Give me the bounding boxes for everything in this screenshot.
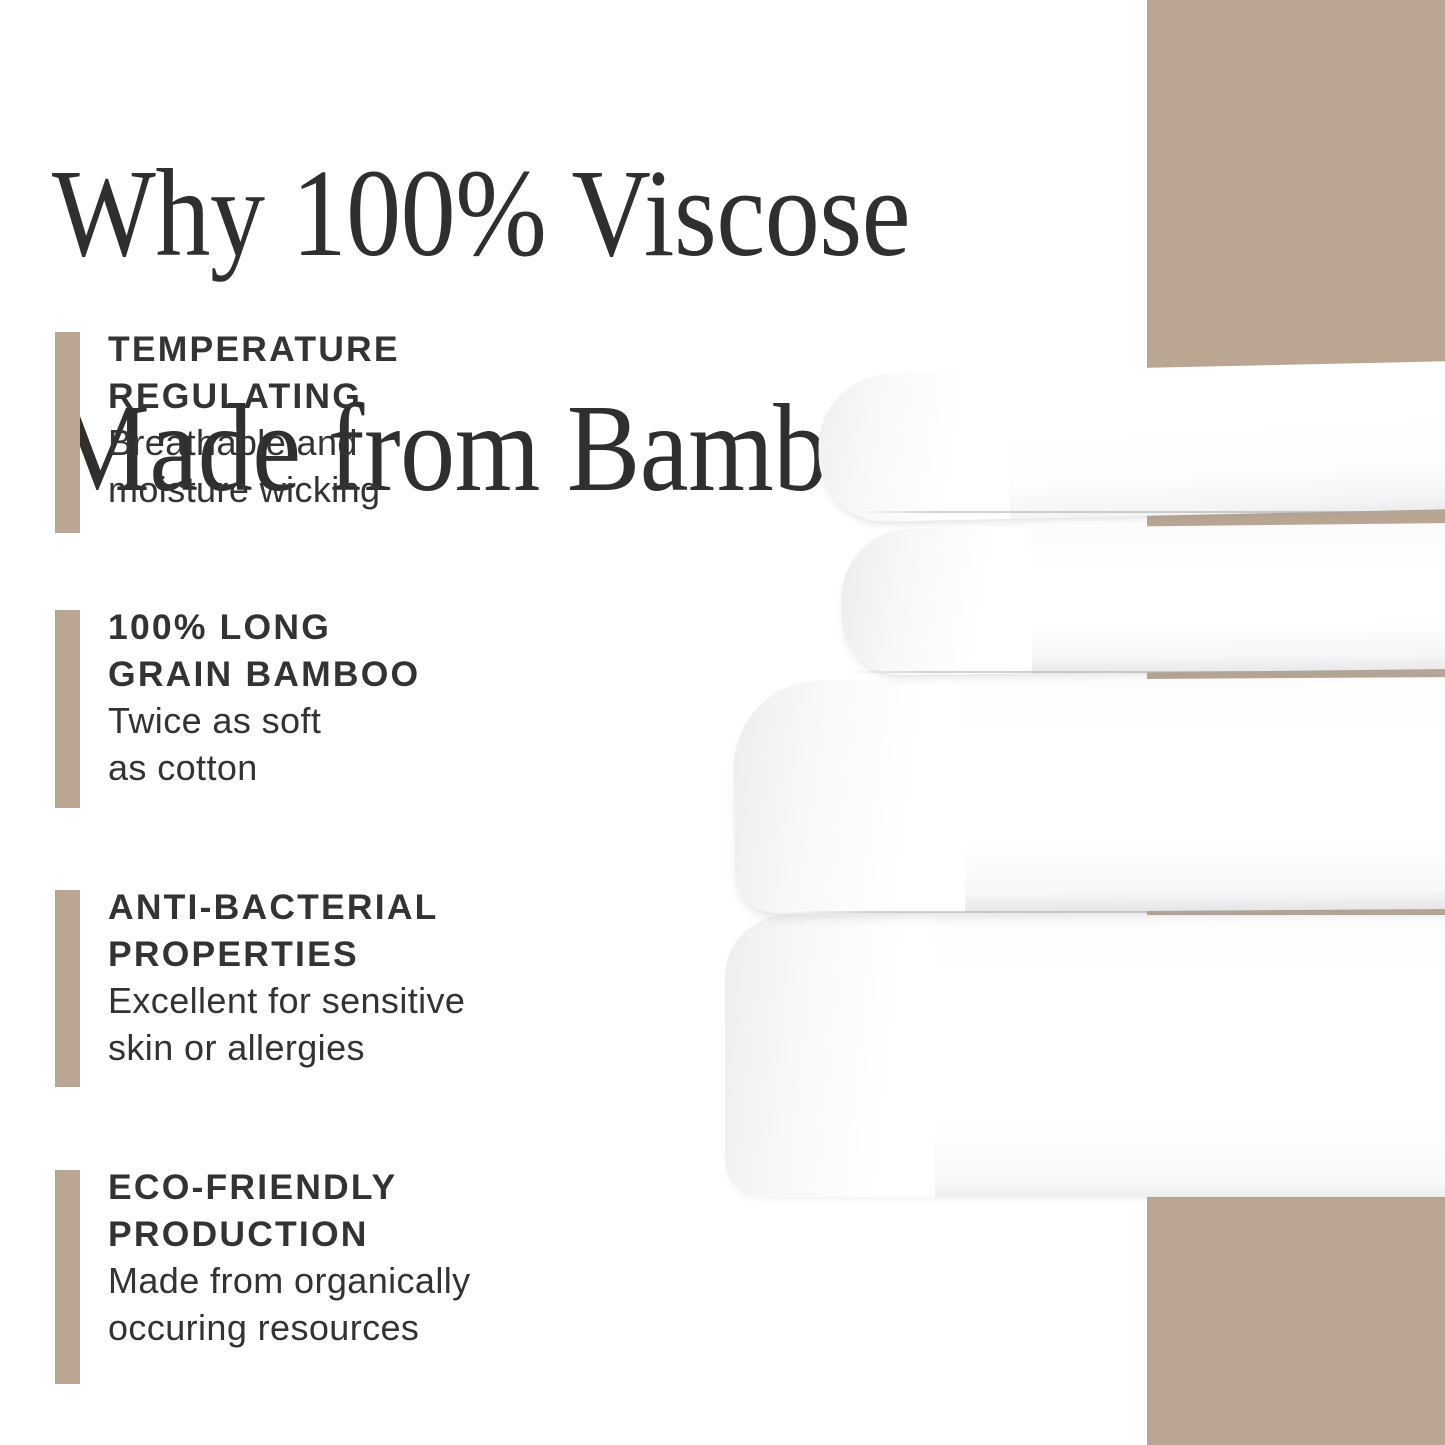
- sheet-layer-1: [817, 361, 1445, 523]
- feature-body: ECO-FRIENDLY PRODUCTION Made from organi…: [108, 1164, 708, 1352]
- sheet-crease-2: [850, 671, 1445, 673]
- feature-description: Made from organically occuring resources: [108, 1258, 708, 1352]
- feature-body: TEMPERATURE REGULATING Breathable and mo…: [108, 326, 708, 514]
- feature-title: ECO-FRIENDLY PRODUCTION: [108, 1164, 708, 1258]
- sheet-crease-1: [860, 511, 1445, 513]
- sheet-layer-4: [725, 915, 1445, 1197]
- feature-description: Breathable and moisture wicking: [108, 420, 708, 514]
- feature-description: Twice as soft as cotton: [108, 698, 708, 792]
- feature-title: TEMPERATURE REGULATING: [108, 326, 708, 420]
- infographic-canvas: Why 100% Viscose Made from Bamboo? TEMPE…: [0, 0, 1445, 1445]
- feature-title: 100% LONG GRAIN BAMBOO: [108, 604, 708, 698]
- feature-body: 100% LONG GRAIN BAMBOO Twice as soft as …: [108, 604, 708, 792]
- accent-bar: [55, 890, 80, 1087]
- sheet-layer-3: [734, 677, 1445, 913]
- feature-list: TEMPERATURE REGULATING Breathable and mo…: [0, 0, 720, 1445]
- product-image-sheet-stack: [700, 355, 1445, 1200]
- sheet-layer-2: [841, 523, 1445, 675]
- feature-description: Excellent for sensitive skin or allergie…: [108, 978, 708, 1072]
- feature-body: ANTI-BACTERIAL PROPERTIES Excellent for …: [108, 884, 708, 1072]
- accent-bar: [55, 332, 80, 533]
- feature-title: ANTI-BACTERIAL PROPERTIES: [108, 884, 708, 978]
- accent-bar: [55, 1170, 80, 1384]
- sheet-crease-3: [795, 911, 1445, 913]
- accent-bar: [55, 610, 80, 808]
